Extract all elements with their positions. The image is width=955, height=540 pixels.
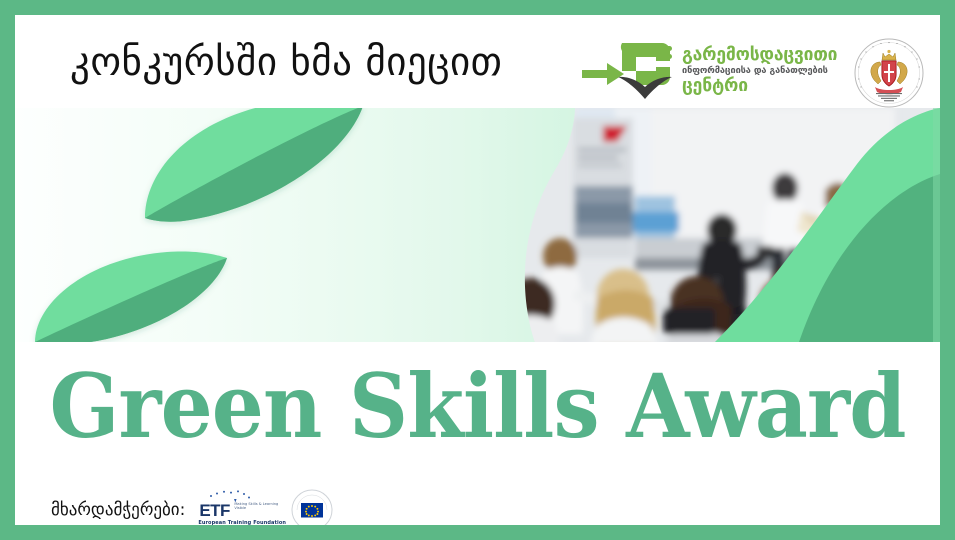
call-to-action-text: კონკურსში ხმა მიეცით	[70, 41, 502, 85]
eiec-logo-text: გარემოსდაცვითი ინფორმაციისა და განათლები…	[682, 46, 832, 96]
eiec-line-1: გარემოსდაცვითი	[682, 46, 832, 65]
award-title: Green Skills Award	[47, 356, 907, 456]
eiec-logo[interactable]: გარემოსდაცვითი ინფორმაციისა და განათლები…	[616, 41, 831, 103]
eiec-line-3: ცენტრი	[682, 77, 832, 96]
award-band: Green Skills Award მხარდამჭერები:	[15, 342, 940, 525]
banner-image-area	[15, 108, 940, 342]
supporters-row: მხარდამჭერები: ETF Making Skills & Learn	[51, 488, 333, 525]
header-strip: კონკურსში ხმა მიეცით გარემოსდაცვითი ინფო…	[15, 15, 940, 108]
poster-canvas: კონკურსში ხმა მიეცით გარემოსდაცვითი ინფო…	[0, 0, 955, 540]
etf-logo[interactable]: ETF Making Skills & Learning Visible Eur…	[197, 490, 279, 525]
georgia-coat-of-arms-icon[interactable]	[853, 37, 925, 109]
etf-subtitle: European Training Foundation	[198, 520, 286, 525]
poster-sheet: კონკურსში ხმა მიეცით გარემოსდაცვითი ინფო…	[15, 15, 940, 525]
banner-graphic	[15, 108, 940, 342]
etf-acronym: ETF	[199, 501, 230, 521]
european-union-flag-logo[interactable]	[291, 489, 333, 525]
etf-side-text: Making Skills & Learning Visible	[234, 502, 278, 511]
eiec-logo-mark	[616, 41, 676, 103]
supporters-label: მხარდამჭერები:	[51, 500, 185, 520]
eu-flag-icon	[291, 489, 333, 525]
